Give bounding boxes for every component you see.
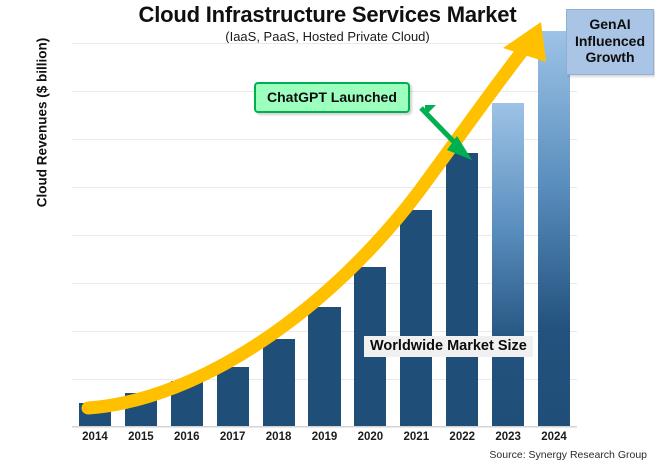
genai-callout-line3: Growth: [569, 49, 651, 66]
x-axis-tick-label: 2023: [495, 431, 521, 443]
genai-callout-line1: GenAI: [569, 16, 651, 33]
x-axis-tick-label: 2018: [266, 431, 292, 443]
x-axis-tick-label: 2020: [358, 431, 384, 443]
chatgpt-callout-tail: [425, 105, 436, 116]
worldwide-market-size-text: Worldwide Market Size: [370, 338, 527, 354]
chatgpt-launched-callout: ChatGPT Launched: [254, 82, 410, 113]
x-axis-tick-label: 2021: [404, 431, 430, 443]
bar-2016: [171, 381, 203, 427]
bar-2021: [400, 210, 432, 427]
bar-2017: [217, 367, 249, 427]
bar-2019: [308, 307, 340, 427]
gridline: [72, 43, 577, 44]
chatgpt-callout-label: ChatGPT Launched: [267, 89, 397, 105]
bar-2022: [446, 153, 478, 427]
bar-2023: [492, 103, 524, 427]
source-note: Source: Synergy Research Group: [489, 449, 647, 461]
x-axis-tick-label: 2016: [174, 431, 200, 443]
chart-container: Cloud Infrastructure Services Market (Ia…: [0, 0, 655, 467]
y-axis-title: Cloud Revenues ($ billion): [35, 0, 50, 253]
gridline: [72, 427, 577, 428]
bar-2024: [538, 31, 570, 427]
x-axis-line: [72, 426, 577, 427]
chart-title: Cloud Infrastructure Services Market: [0, 2, 655, 28]
bar-2014: [79, 403, 111, 427]
x-axis-tick-label: 2017: [220, 431, 246, 443]
bar-2015: [125, 393, 157, 427]
genai-callout-line2: Influenced: [569, 33, 651, 50]
bar-2018: [263, 339, 295, 427]
x-axis-tick-label: 2022: [449, 431, 475, 443]
x-axis-tick-label: 2014: [82, 431, 108, 443]
genai-growth-callout: GenAI Influenced Growth: [566, 9, 654, 75]
x-axis-tick-label: 2019: [312, 431, 338, 443]
x-axis-tick-label: 2024: [541, 431, 567, 443]
x-axis-tick-label: 2015: [128, 431, 154, 443]
worldwide-market-size-label: Worldwide Market Size: [364, 336, 533, 357]
